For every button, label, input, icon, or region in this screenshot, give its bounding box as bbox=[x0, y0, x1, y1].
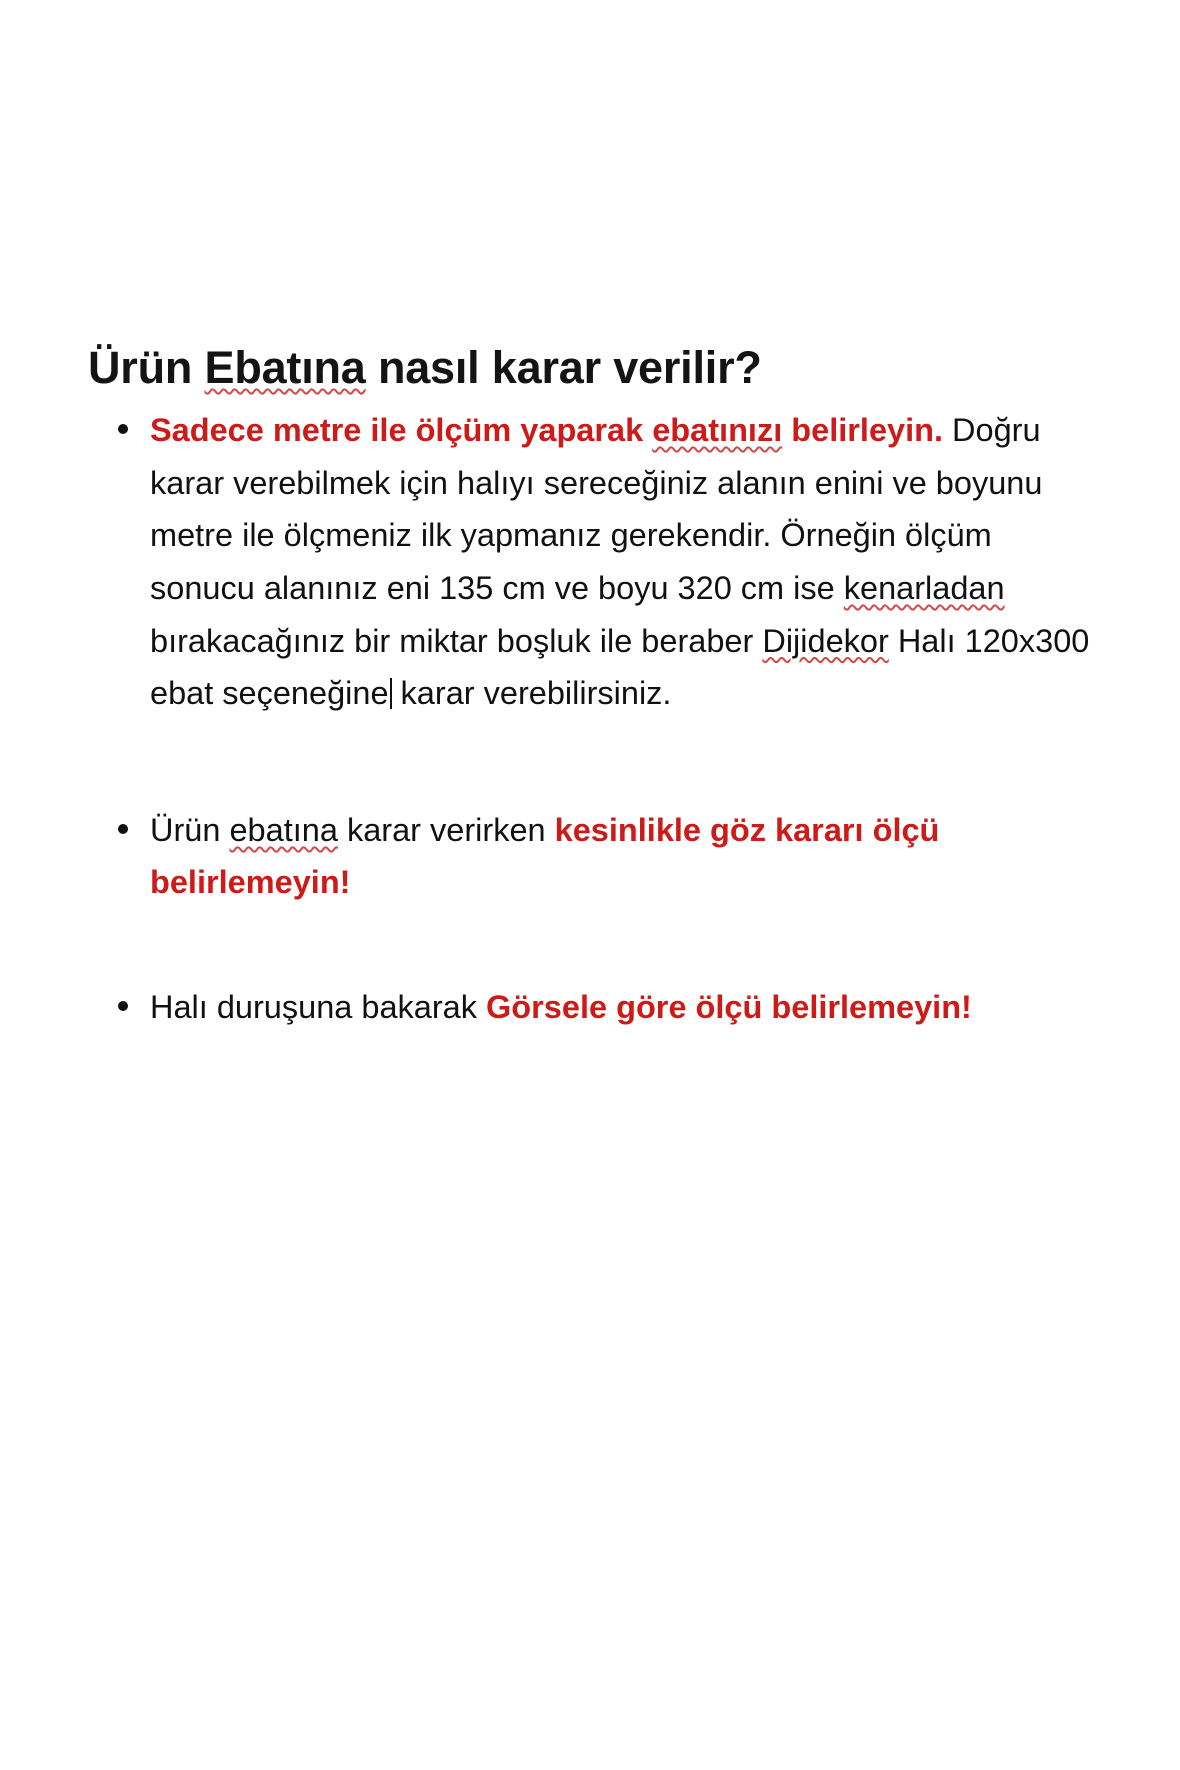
list-item: Halı duruşuna bakarak Görsele göre ölçü … bbox=[88, 981, 1098, 1034]
page-title-part-2: nasıl karar verilir? bbox=[366, 342, 762, 393]
page-title-misspelled-word: Ebatına bbox=[205, 342, 366, 393]
bullet-dot-icon bbox=[118, 824, 128, 834]
bullet-1-segment-1: ebatınızı bbox=[652, 412, 782, 448]
bullet-3-segment-0: Halı duruşuna bakarak bbox=[150, 989, 486, 1025]
slide-page: Ürün Ebatına nasıl karar verilir? Sadece… bbox=[0, 0, 1180, 1770]
bullet-list: Sadece metre ile ölçüm yaparak ebatınızı… bbox=[88, 404, 1098, 1034]
bullet-dot-icon bbox=[118, 424, 128, 434]
bullet-3-segment-1: Görsele göre ölçü belirlemeyin! bbox=[486, 989, 972, 1025]
bullet-1-segment-4: kenarladan bbox=[844, 570, 1005, 606]
list-item: Ürün ebatına karar verirken kesinlikle g… bbox=[88, 804, 1098, 909]
bullet-1-segment-2: belirleyin. bbox=[782, 412, 943, 448]
bullet-2-segment-2: karar verirken bbox=[338, 812, 555, 848]
page-title-part-1: Ürün bbox=[88, 342, 205, 393]
bullet-2-segment-0: Ürün bbox=[150, 812, 229, 848]
bullet-1-segment-0: Sadece metre ile ölçüm yaparak bbox=[150, 412, 652, 448]
list-item: Sadece metre ile ölçüm yaparak ebatınızı… bbox=[88, 404, 1098, 720]
bullet-1-segment-6: Dijidekor bbox=[762, 623, 888, 659]
bullet-dot-icon bbox=[118, 1001, 128, 1011]
slide-content-area: Ürün Ebatına nasıl karar verilir? Sadece… bbox=[0, 256, 1180, 1770]
page-title: Ürün Ebatına nasıl karar verilir? bbox=[88, 344, 1088, 391]
bullet-2-segment-1: ebatına bbox=[229, 812, 337, 848]
bullet-1-segment-5: bırakacağınız bir miktar boşluk ile bera… bbox=[150, 623, 762, 659]
bullet-1-segment-9: karar verebilirsiniz. bbox=[392, 675, 672, 711]
